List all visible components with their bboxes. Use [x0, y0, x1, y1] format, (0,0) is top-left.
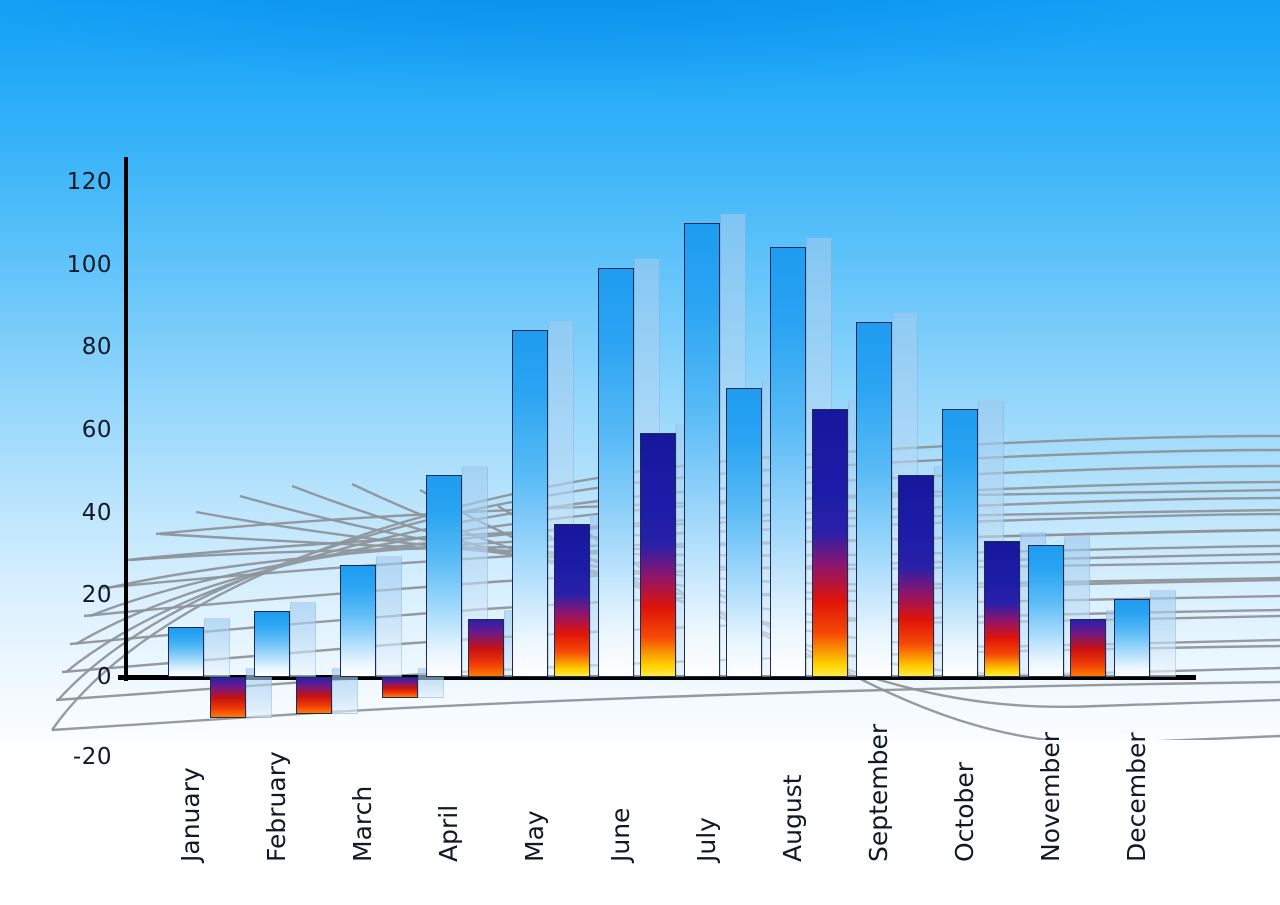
x-axis-label-april: April — [434, 805, 463, 862]
x-axis-label-group: JanuaryFebruaryMarchAprilMayJuneJulyAugu… — [0, 0, 1280, 905]
x-axis-label-march: March — [348, 786, 377, 862]
x-axis-label-december: December — [1122, 732, 1151, 862]
x-axis-label-july: July — [692, 817, 721, 862]
x-axis-label-may: May — [520, 810, 549, 862]
x-axis-label-august: August — [778, 775, 807, 863]
chart-canvas: 120 100 80 60 40 20 0 -20 JanuaryFebruar… — [0, 0, 1280, 905]
x-axis-label-september: September — [864, 724, 893, 862]
x-axis-label-november: November — [1036, 732, 1065, 862]
x-axis-label-january: January — [176, 767, 205, 862]
plot-area: 120 100 80 60 40 20 0 -20 JanuaryFebruar… — [0, 0, 1280, 905]
x-axis-label-june: June — [606, 808, 635, 862]
x-axis-label-october: October — [950, 762, 979, 862]
x-axis-label-february: February — [262, 751, 291, 862]
